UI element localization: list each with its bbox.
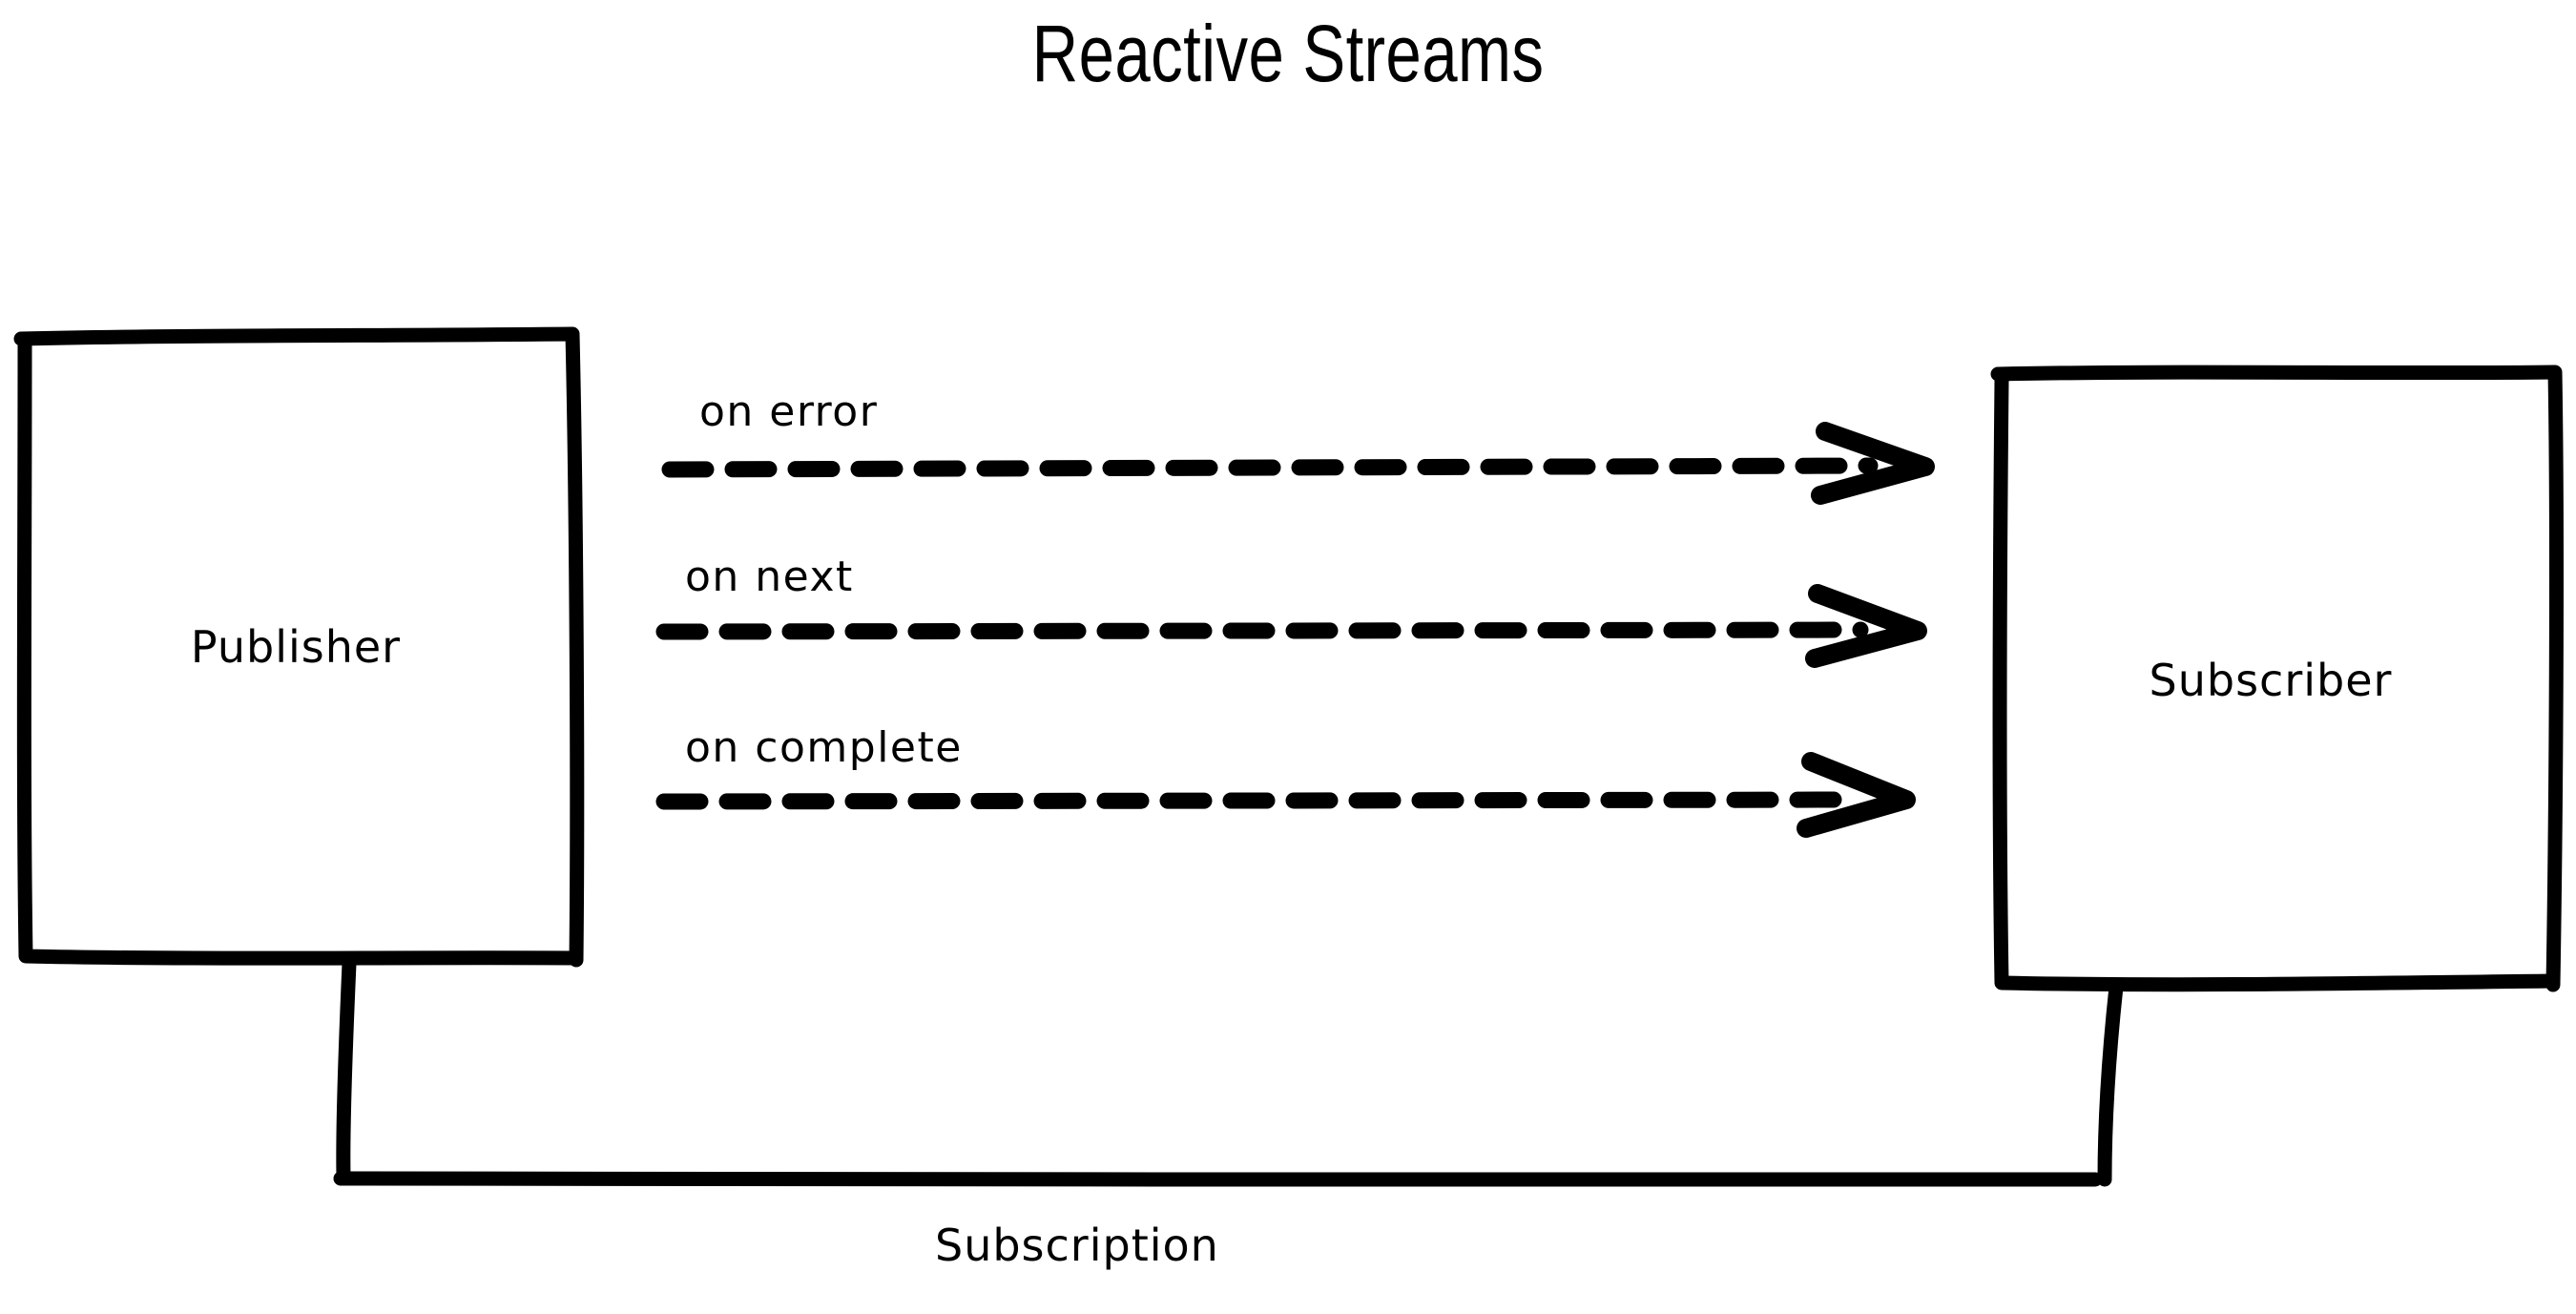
on-error-dashed-line <box>670 466 1870 469</box>
subscription-horizontal <box>341 1178 2095 1179</box>
page-title: Reactive Streams <box>258 13 2318 94</box>
publisher-label: Publisher <box>0 625 592 669</box>
on-next-dashed-line <box>664 630 1860 632</box>
subscription-connector[interactable] <box>341 964 2116 1179</box>
subscriber-label: Subscriber <box>1984 658 2557 702</box>
subscription-left-leg <box>343 964 349 1176</box>
subscription-label: Subscription <box>935 1223 1219 1267</box>
on-complete-dashed-line <box>664 800 1851 802</box>
on-error-label: on error <box>699 391 878 433</box>
on-next-label: on next <box>685 556 854 598</box>
on-complete-label: on complete <box>685 727 963 769</box>
on-next-arrow[interactable] <box>664 594 1918 658</box>
subscription-right-leg <box>2105 987 2116 1179</box>
on-error-arrow[interactable] <box>670 431 1925 495</box>
diagram-canvas: Reactive Streams Publisher Subscriber on… <box>0 0 2576 1314</box>
